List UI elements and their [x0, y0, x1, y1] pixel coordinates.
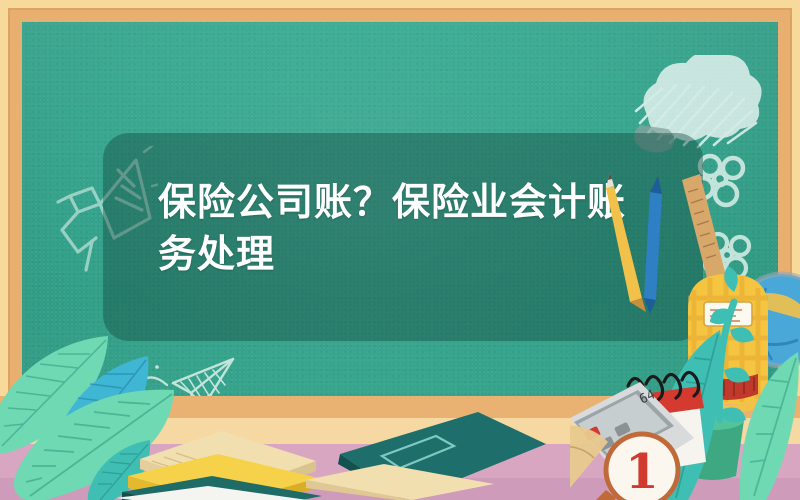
book-cream-center [300, 462, 500, 500]
ruler-icon [682, 174, 726, 282]
pencil-icon [606, 172, 646, 312]
book-white [112, 486, 327, 500]
stationery-cluster: 64 1 [570, 170, 800, 500]
svg-text:1: 1 [625, 444, 658, 500]
pen-blue-icon [644, 176, 662, 314]
banner-canvas: 保险公司账？保险业会计账务处理 [0, 0, 800, 500]
